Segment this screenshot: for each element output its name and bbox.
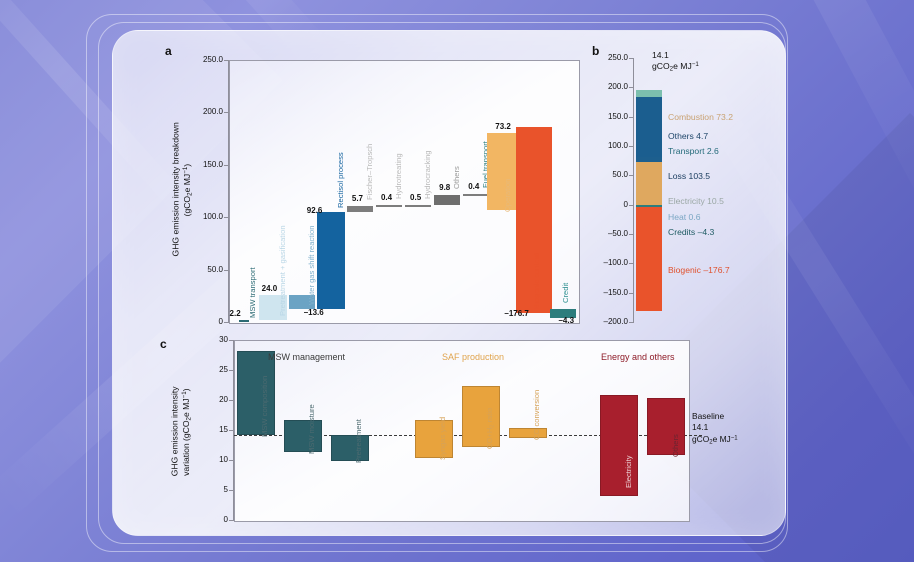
panel-c-bar: [415, 420, 453, 458]
panel-c-y-ticklabel: 15: [204, 425, 228, 434]
panel-a-y-ticklabel: 50.0: [177, 265, 223, 274]
panel-a-y-tickmark: [224, 112, 228, 113]
panel-c-group-label: Energy and others: [601, 352, 675, 362]
panel-c-y-ticklabel: 5: [204, 485, 228, 494]
panel-c-group-label: SAF production: [442, 352, 504, 362]
panel-a-bar-label: Operation: [503, 179, 512, 212]
panel-b-y-ticklabel: 250.0: [580, 53, 628, 62]
panel-a-letter: a: [165, 44, 172, 58]
panel-a-y-ticklabel: 100.0: [177, 212, 223, 221]
panel-c-y-ticklabel: 30: [204, 335, 228, 344]
panel-c-bar: [284, 420, 322, 451]
panel-a-bar: [376, 205, 402, 207]
panel-b-y-tickmark: [629, 293, 633, 294]
panel-a-bar-label: Hydrotreating: [394, 154, 403, 200]
panel-b-stack-segment: [636, 97, 662, 158]
panel-c-ylabel-line2: variation (gCO2e MJ−1): [181, 362, 193, 502]
panel-a-bar-label: Hydrocracking: [423, 150, 432, 199]
panel-a-y-ticklabel: 0: [177, 317, 223, 326]
panel-b-legend-item: Combustion 73.2: [668, 112, 733, 122]
panel-c-baseline-note: Baseline 14.1 gCO2e MJ−1: [692, 411, 738, 446]
panel-c-y-tickmark: [229, 460, 233, 461]
panel-a-y-tickmark: [224, 165, 228, 166]
panel-a-bar-label: Others: [452, 166, 461, 189]
panel-a-ylabel-line1: GHG emission intensity breakdown: [171, 89, 182, 289]
panel-b-header-unit: gCO2e MJ−1: [652, 61, 699, 71]
panel-b-stack-segment: [636, 207, 662, 311]
figure-canvas: a GHG emission intensity breakdown (gCO2…: [0, 0, 914, 562]
panel-c-y-ticklabel: 25: [204, 365, 228, 374]
panel-a-bar-label: Water gas shift reaction: [307, 225, 316, 305]
panel-c-y-tickmark: [229, 520, 233, 521]
panel-b-y-ticklabel: –150.0: [580, 288, 628, 297]
panel-a-y-axis: [228, 60, 229, 323]
panel-b-stack-segment: [636, 157, 662, 159]
panel-c-y-axis: [233, 340, 234, 521]
panel-a-y-tickmark: [224, 270, 228, 271]
panel-b-stack-segment: [636, 90, 662, 92]
panel-c-y-tickmark: [229, 370, 233, 371]
panel-a-value-label: 24.0: [262, 284, 278, 293]
panel-a-value-label: 92.6: [307, 206, 323, 215]
panel-a-y-ticklabel: 250.0: [177, 55, 223, 64]
panel-c-bar-label: Electricity: [624, 456, 633, 489]
panel-a-y-tickmark: [224, 217, 228, 218]
panel-a-y-tickmark: [224, 60, 228, 61]
panel-c-y-ticklabel: 20: [204, 395, 228, 404]
panel-b-y-ticklabel: 50.0: [580, 170, 628, 179]
panel-a-bar-label: Credit: [561, 283, 570, 303]
panel-b-header-value: 14.1: [652, 50, 669, 60]
panel-b-legend-item: Loss 103.5: [668, 171, 710, 181]
panel-a-value-label: 0.4: [468, 182, 479, 191]
baseline-note-line2: 14.1: [692, 422, 708, 432]
panel-a-ylabel-line2: (gCO2e MJ−1): [182, 90, 194, 290]
panel-a-bar-label: Fischer–Tropsch: [365, 143, 374, 199]
panel-b-legend-item: Heat 0.6: [668, 212, 701, 222]
panel-c-bar-label: MSW moisture: [307, 404, 316, 454]
panel-a-value-label: 0.4: [381, 193, 392, 202]
panel-a-value-label: –176.7: [504, 309, 528, 318]
panel-b-legend-item: Credits –4.3: [668, 227, 714, 237]
panel-b-header: 14.1 gCO2e MJ−1: [652, 50, 699, 74]
panel-a-bar-label: Biogenic content: [532, 252, 541, 308]
panel-a-value-label: 5.7: [352, 194, 363, 203]
panel-b-y-tickmark: [629, 117, 633, 118]
panel-c-group-label: MSW management: [268, 352, 345, 362]
panel-b-legend-item: Electricity 10.5: [668, 196, 724, 206]
panel-b-y-tickmark: [629, 234, 633, 235]
panel-a-y-ticklabel: 150.0: [177, 160, 223, 169]
panel-b-y-tickmark: [629, 322, 633, 323]
panel-b-y-tickmark: [629, 175, 633, 176]
panel-b-y-axis: [633, 58, 634, 323]
panel-c-y-ticklabel: 0: [204, 515, 228, 524]
panel-c-bar: [331, 435, 369, 461]
panel-b-y-tickmark: [629, 263, 633, 264]
panel-a-bar-label: MSW transport: [248, 267, 257, 318]
panel-a-value-label: 0.5: [410, 193, 421, 202]
panel-b-y-ticklabel: –100.0: [580, 258, 628, 267]
panel-c-bar: [237, 351, 275, 435]
panel-b-legend-item: Transport 2.6: [668, 146, 719, 156]
panel-a-bar: [347, 206, 373, 212]
panel-c-bar: [509, 428, 547, 439]
panel-b-y-ticklabel: 150.0: [580, 112, 628, 121]
panel-b-legend-item: Biogenic –176.7: [668, 265, 730, 275]
panel-a-bar: [463, 194, 489, 196]
panel-a-bar-label: Rectisol process: [336, 152, 345, 208]
panel-a-value-label: 2.2: [230, 309, 241, 318]
panel-a-bar-label: Pretreatment + gasification: [278, 225, 287, 316]
panel-a-bar: [317, 212, 345, 309]
panel-a-y-ticklabel: 200.0: [177, 107, 223, 116]
panel-c-bar-label: CO+H2 ratio: [485, 408, 495, 449]
panel-c-bar-label: Others: [671, 434, 680, 457]
panel-c-y-tickmark: [229, 490, 233, 491]
panel-a-bar: [434, 195, 460, 205]
panel-b-y-ticklabel: –200.0: [580, 317, 628, 326]
panel-c-ylabel-line1: GHG emission intensity: [170, 361, 181, 501]
panel-c-y-tickmark: [229, 430, 233, 431]
panel-b-y-tickmark: [629, 205, 633, 206]
panel-b-y-ticklabel: 0: [580, 200, 628, 209]
panel-b-stack-segment: [636, 162, 662, 205]
panel-a-bar: [239, 320, 249, 322]
panel-b-y-tickmark: [629, 58, 633, 59]
panel-b-y-tickmark: [629, 146, 633, 147]
panel-c-bar-label: Syngas yield: [438, 417, 447, 460]
panel-c-y-ticklabel: 10: [204, 455, 228, 464]
panel-b-y-ticklabel: –50.0: [580, 229, 628, 238]
panel-c-letter: c: [160, 337, 167, 351]
panel-a-value-label: –4.3: [558, 316, 574, 325]
panel-a-y-tickmark: [224, 322, 228, 323]
panel-a-bar: [405, 205, 431, 207]
panel-b-y-ticklabel: 100.0: [580, 141, 628, 150]
panel-c-y-tickmark: [229, 400, 233, 401]
panel-a-value-label: –13.6: [304, 308, 324, 317]
panel-b-legend-item: Others 4.7: [668, 131, 708, 141]
panel-b-y-tickmark: [629, 87, 633, 88]
panel-c-bar-label: CO conversion: [532, 390, 541, 440]
panel-b-y-ticklabel: 200.0: [580, 82, 628, 91]
panel-a-value-label: 9.8: [439, 183, 450, 192]
panel-c-bar-label: MSW composition: [260, 376, 269, 437]
panel-a-value-label: 73.2: [495, 122, 511, 131]
panel-c-bar-label: Pretreatment: [354, 419, 363, 463]
panel-c-y-tickmark: [229, 340, 233, 341]
baseline-note-line1: Baseline: [692, 411, 724, 421]
